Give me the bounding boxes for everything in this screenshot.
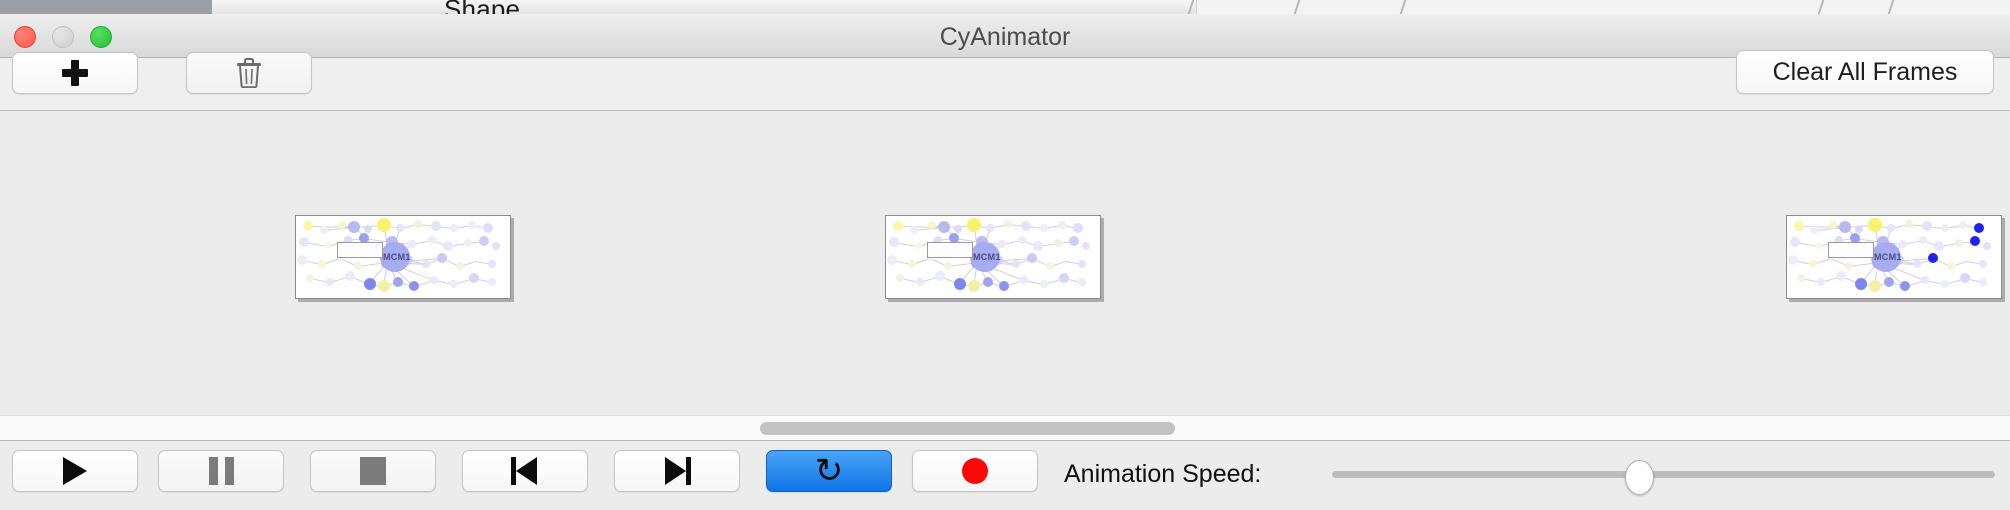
timeline-scrollbar[interactable] xyxy=(0,415,2010,441)
frame-thumbnail-2[interactable]: MCM1 xyxy=(885,215,1101,299)
skip-to-start-button[interactable] xyxy=(462,450,588,492)
loop-icon: ↻ xyxy=(815,454,844,488)
delete-frame-button[interactable] xyxy=(186,52,312,94)
background-window-strip: Shape xyxy=(0,0,2010,15)
network-graph-thumbnail: MCM1 xyxy=(886,216,1100,298)
window-title: CyAnimator xyxy=(0,23,2010,52)
pause-icon xyxy=(209,457,234,485)
cyanimator-window: Shape CyAnimator Clear All Frames 121314… xyxy=(0,0,2010,510)
play-icon xyxy=(63,457,87,485)
frame-thumbnail-3[interactable]: MCM1 xyxy=(1786,215,2002,299)
node-tooltip-box xyxy=(1828,242,1874,258)
background-window-label: Shape xyxy=(444,0,520,15)
clear-all-frames-button[interactable]: Clear All Frames xyxy=(1736,50,1994,94)
skip-to-end-button[interactable] xyxy=(614,450,740,492)
stop-button[interactable] xyxy=(310,450,436,492)
record-button[interactable] xyxy=(912,450,1038,492)
plus-icon xyxy=(62,60,88,86)
playback-control-bar: ↻ Animation Speed: xyxy=(0,442,2010,510)
play-button[interactable] xyxy=(12,450,138,492)
slider-track xyxy=(1332,471,1995,478)
skip-to-start-icon xyxy=(511,457,539,485)
loop-button[interactable]: ↻ xyxy=(766,450,892,492)
hub-node-label: MCM1 xyxy=(973,252,1001,262)
node-tooltip-box xyxy=(927,242,973,258)
skip-to-end-icon xyxy=(663,457,691,485)
timeline-panel[interactable]: 12131415161718 MCM1MCM1MCM1 Seconds xyxy=(0,111,2010,415)
hub-node-label: MCM1 xyxy=(383,252,411,262)
slider-thumb[interactable] xyxy=(1625,460,1654,495)
stop-icon xyxy=(360,457,386,485)
timeline-scrollbar-thumb[interactable] xyxy=(760,422,1175,435)
frame-thumbnail-1[interactable]: MCM1 xyxy=(295,215,511,299)
network-graph-thumbnail: MCM1 xyxy=(296,216,510,298)
node-tooltip-box xyxy=(337,242,383,258)
hub-node-label: MCM1 xyxy=(1874,252,1902,262)
add-frame-button[interactable] xyxy=(12,52,138,94)
trash-icon xyxy=(236,58,262,88)
animation-speed-slider[interactable] xyxy=(1332,460,1995,488)
network-graph-thumbnail: MCM1 xyxy=(1787,216,2001,298)
pause-button[interactable] xyxy=(158,450,284,492)
record-icon xyxy=(962,458,988,484)
background-window-dark-segment xyxy=(0,0,212,14)
animation-speed-label: Animation Speed: xyxy=(1064,460,1261,489)
